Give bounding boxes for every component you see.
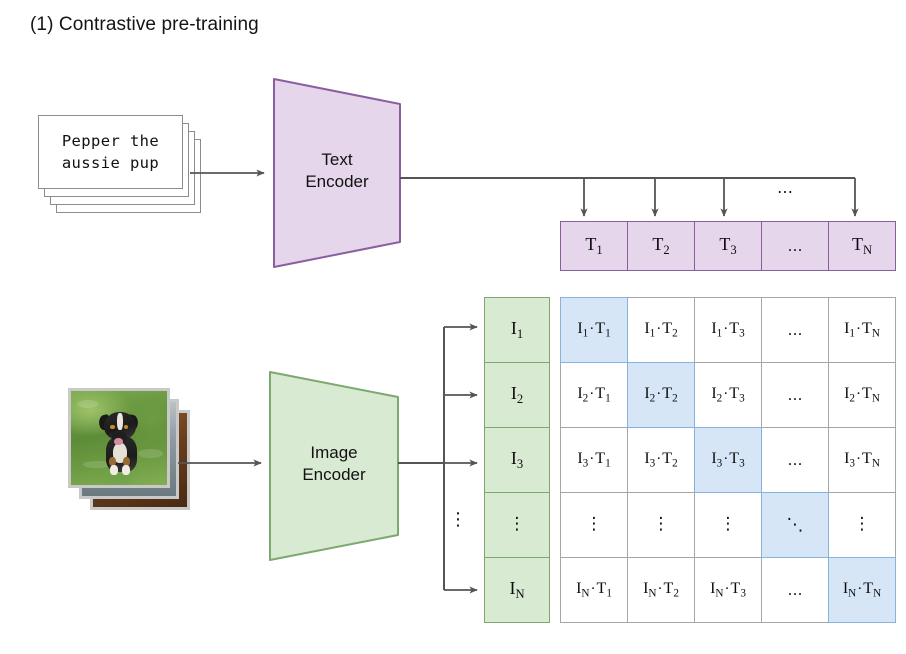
matrix-cell-label: I1·T1 <box>577 320 610 339</box>
i-cell-3-label: I3 <box>511 448 523 472</box>
matrix-cell-i2-t3[interactable]: I2·T3 <box>694 362 762 428</box>
page-title: (1) Contrastive pre-training <box>30 14 259 36</box>
matrix-cell-ellipsis: ⋮ <box>854 517 871 532</box>
matrix-cell-i1-tN[interactable]: I1·TN <box>828 297 896 363</box>
image-input-stack <box>68 388 208 513</box>
t-cell-ellipsis-label: … <box>788 237 803 255</box>
i-cell-2-label: I2 <box>511 383 523 407</box>
matrix-cell-label: I3·T1 <box>577 450 610 469</box>
i-cell-ellipsis: ⋮ <box>484 492 550 558</box>
matrix-cell-i2-t2[interactable]: I2·T2 <box>627 362 695 428</box>
i-cell-n-label: IN <box>509 578 524 602</box>
t-cell-n-label: TN <box>852 234 872 258</box>
matrix-cell-label: I2·TN <box>844 385 880 404</box>
i-cell-1[interactable]: I1 <box>484 297 550 363</box>
i-cell-3[interactable]: I3 <box>484 427 550 493</box>
wire-image-encoder-bus <box>398 327 477 590</box>
matrix-cell-ellipsis: ⋮ <box>586 517 603 532</box>
i-cell-n[interactable]: IN <box>484 557 550 623</box>
matrix-cell-label: IN·TN <box>843 580 881 599</box>
text-input-stack: Pepper the aussie pup <box>38 115 218 225</box>
t-cell-2[interactable]: T2 <box>627 221 695 271</box>
matrix-cell-label: IN·T2 <box>643 580 679 599</box>
matrix-cell-ddots: ⋱ <box>761 492 829 558</box>
matrix-cell-label: I1·T2 <box>644 320 677 339</box>
matrix-cell-vdots: ⋮ <box>560 492 628 558</box>
photo-front <box>68 388 170 488</box>
matrix-cell-ellipsis: … <box>788 386 803 404</box>
matrix-cell-i3-tN[interactable]: I3·TN <box>828 427 896 493</box>
i-cell-2[interactable]: I2 <box>484 362 550 428</box>
t-cell-1[interactable]: T1 <box>560 221 628 271</box>
matrix-cell-label: I3·T3 <box>711 450 744 469</box>
matrix-cell-label: I2·T3 <box>711 385 744 404</box>
matrix-cell-i3-t2[interactable]: I3·T2 <box>627 427 695 493</box>
matrix-cell-i3-t3[interactable]: I3·T3 <box>694 427 762 493</box>
t-cell-n[interactable]: TN <box>828 221 896 271</box>
i-cell-1-label: I1 <box>511 318 523 342</box>
matrix-cell-label: I3·T2 <box>644 450 677 469</box>
matrix-cell-i3-t1[interactable]: I3·T1 <box>560 427 628 493</box>
image-fanout-ellipsis: ⋮ <box>449 512 467 528</box>
matrix-cell-ellipsis: … <box>788 321 803 339</box>
matrix-cell-label: I2·T2 <box>644 385 677 404</box>
matrix-cell-ellipsis: ⋮ <box>653 517 670 532</box>
matrix-cell-label: I1·T3 <box>711 320 744 339</box>
matrix-cell-label: I3·TN <box>844 450 880 469</box>
matrix-cell-i2-t1[interactable]: I2·T1 <box>560 362 628 428</box>
i-cell-ellipsis-label: ⋮ <box>509 517 526 532</box>
matrix-cell-vdots: ⋮ <box>627 492 695 558</box>
matrix-cell-hdots: … <box>761 297 829 363</box>
text-card-front: Pepper the aussie pup <box>38 115 183 189</box>
puppy-photo <box>71 391 167 485</box>
text-encoder-shape <box>272 77 402 269</box>
text-embedding-row: T1 T2 T3 … TN <box>560 221 892 271</box>
image-embedding-column: I1 I2 I3 ⋮ IN <box>484 297 550 625</box>
matrix-cell-ellipsis: ⋮ <box>720 517 737 532</box>
matrix-cell-hdots: … <box>761 362 829 428</box>
matrix-cell-iN-t1[interactable]: IN·T1 <box>560 557 628 623</box>
matrix-cell-vdots: ⋮ <box>694 492 762 558</box>
diagram-canvas: (1) Contrastive pre-training Pepper the … <box>0 0 906 654</box>
matrix-cell-i2-tN[interactable]: I2·TN <box>828 362 896 428</box>
matrix-cell-label: I2·T1 <box>577 385 610 404</box>
matrix-cell-vdots: ⋮ <box>828 492 896 558</box>
matrix-cell-hdots: … <box>761 427 829 493</box>
similarity-matrix: I1·T1I1·T2I1·T3…I1·TNI2·T1I2·T2I2·T3…I2·… <box>560 297 894 625</box>
matrix-cell-hdots: … <box>761 557 829 623</box>
t-cell-2-label: T2 <box>652 234 669 258</box>
text-encoder[interactable] <box>272 77 402 269</box>
matrix-cell-ellipsis: … <box>788 451 803 469</box>
image-encoder[interactable] <box>268 370 400 562</box>
matrix-cell-iN-tN[interactable]: IN·TN <box>828 557 896 623</box>
matrix-cell-label: I1·TN <box>844 320 880 339</box>
matrix-cell-iN-t2[interactable]: IN·T2 <box>627 557 695 623</box>
matrix-cell-i1-t2[interactable]: I1·T2 <box>627 297 695 363</box>
matrix-cell-label: IN·T3 <box>710 580 746 599</box>
matrix-cell-i1-t1[interactable]: I1·T1 <box>560 297 628 363</box>
t-cell-1-label: T1 <box>585 234 602 258</box>
matrix-cell-iN-t3[interactable]: IN·T3 <box>694 557 762 623</box>
text-caption: Pepper the aussie pup <box>62 130 159 175</box>
t-cell-ellipsis: … <box>761 221 829 271</box>
matrix-cell-ellipsis: … <box>788 581 803 599</box>
t-cell-3[interactable]: T3 <box>694 221 762 271</box>
matrix-cell-label: IN·T1 <box>576 580 612 599</box>
matrix-cell-i1-t3[interactable]: I1·T3 <box>694 297 762 363</box>
matrix-cell-ellipsis: ⋱ <box>787 515 804 535</box>
t-cell-3-label: T3 <box>719 234 736 258</box>
text-fanout-ellipsis: … <box>770 178 800 197</box>
image-encoder-shape <box>268 370 400 562</box>
